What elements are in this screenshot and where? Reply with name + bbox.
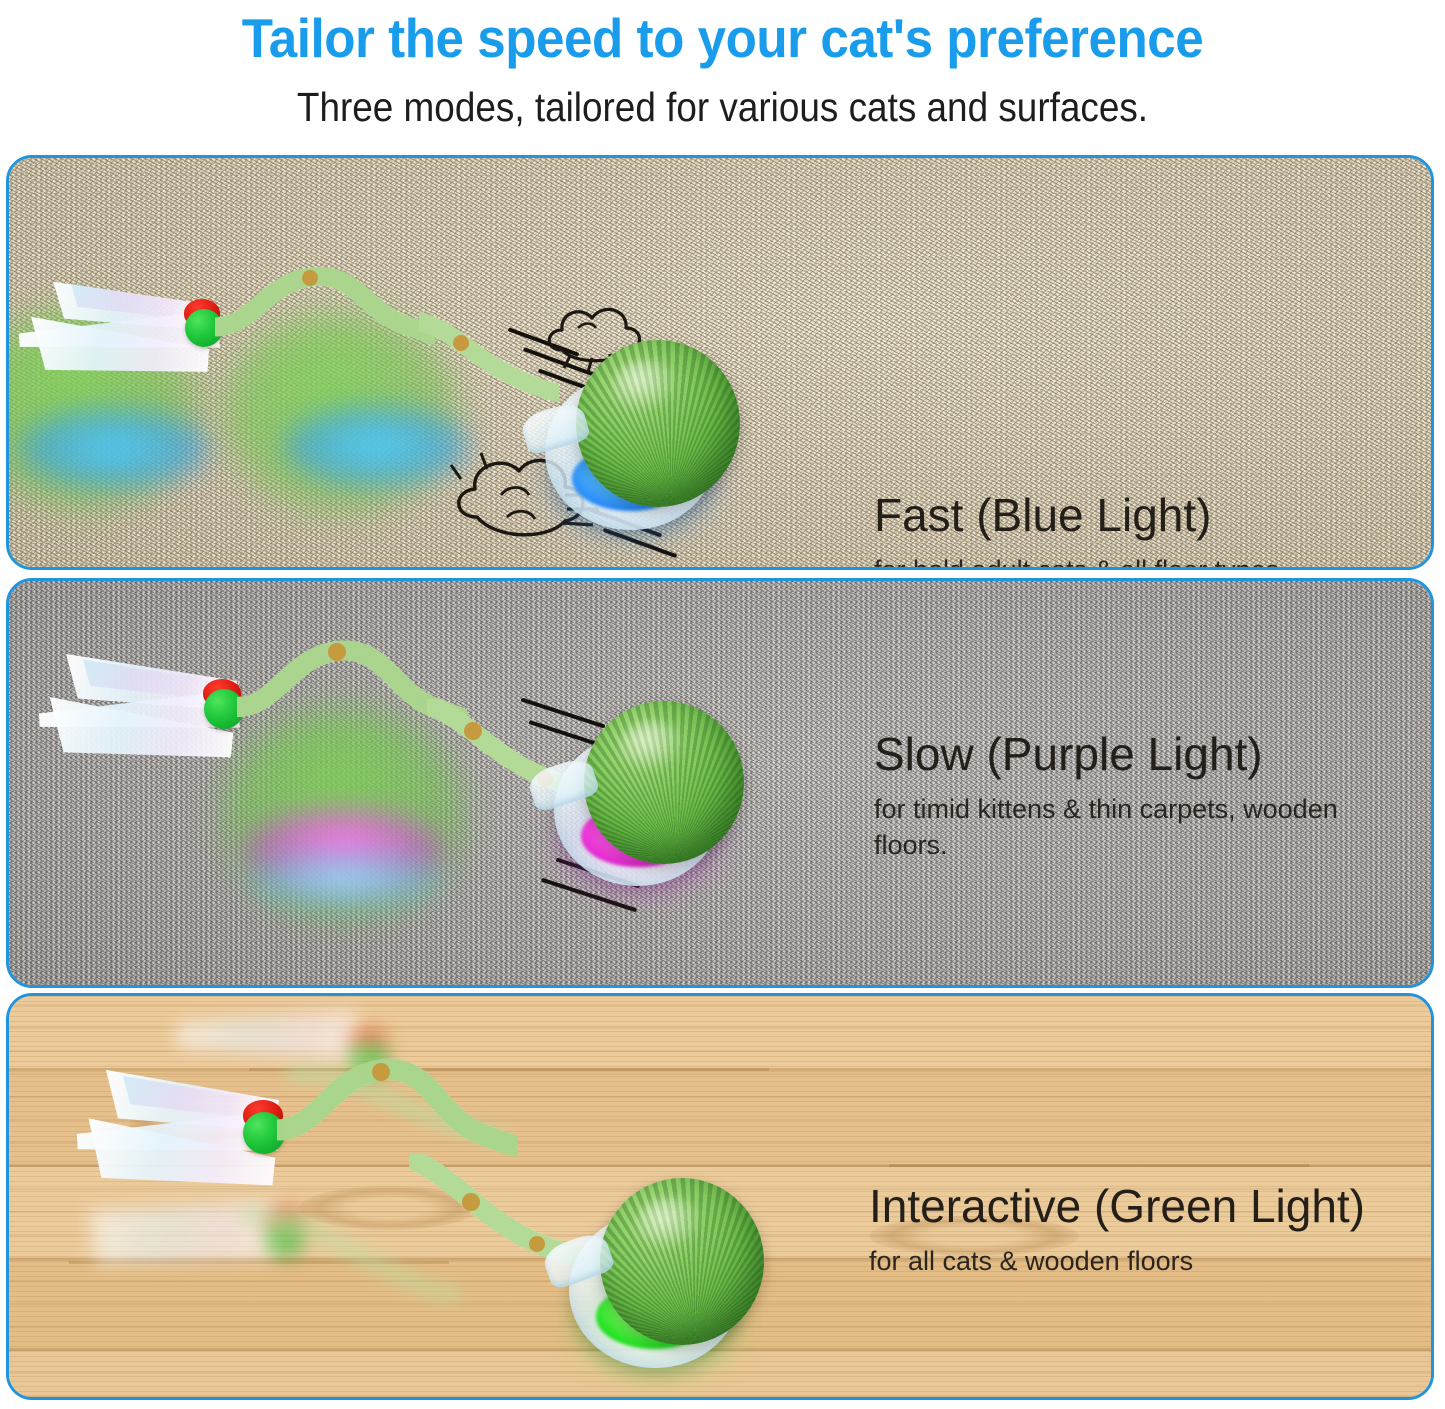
page-title: Tailor the speed to your cat's preferenc… <box>51 6 1395 70</box>
mode-title-fast: Fast (Blue Light) <box>874 491 1279 539</box>
mode-title-interactive: Interactive (Green Light) <box>869 1182 1365 1230</box>
mode-text-interactive: Interactive (Green Light) for all cats &… <box>869 1182 1365 1280</box>
rolling-ball-toy <box>554 701 744 886</box>
ball-motion-ghost-glow <box>284 406 469 486</box>
infographic-root: Tailor the speed to your cat's preferenc… <box>0 0 1445 1409</box>
mode-panel-interactive: Interactive (Green Light) for all cats &… <box>6 993 1434 1400</box>
mode-panel-fast: Fast (Blue Light) for bold adult cats & … <box>6 155 1434 570</box>
mode-title-slow: Slow (Purple Light) <box>874 730 1344 778</box>
shell-highlight <box>620 721 687 773</box>
mode-text-slow: Slow (Purple Light) for timid kittens & … <box>874 730 1344 864</box>
rolling-ball-toy <box>569 1178 764 1368</box>
mode-subtitle-slow: for timid kittens & thin carpets, wooden… <box>874 792 1344 863</box>
feather-wand-toy <box>6 253 429 413</box>
mode-subtitle-fast: for bold adult cats & all floor types <box>874 553 1279 570</box>
page-subtitle: Three modes, tailored for various cats a… <box>72 84 1373 131</box>
shell-highlight <box>636 1198 705 1252</box>
ball-motion-ghost-glow-cyan <box>247 849 443 909</box>
header: Tailor the speed to your cat's preferenc… <box>0 0 1445 152</box>
rolling-ball-toy <box>545 340 740 530</box>
toy-green-shell <box>576 340 740 507</box>
ball-motion-ghost-glow <box>19 408 209 488</box>
wood-plank-seam <box>889 1164 1309 1167</box>
toy-green-shell <box>584 701 744 864</box>
mode-subtitle-interactive: for all cats & wooden floors <box>869 1244 1365 1280</box>
mode-text-fast: Fast (Blue Light) for bold adult cats & … <box>874 491 1279 570</box>
mode-panel-slow: Slow (Purple Light) for timid kittens & … <box>6 578 1434 988</box>
toy-green-shell <box>600 1178 764 1345</box>
mesh-tail <box>215 253 435 393</box>
shell-highlight <box>612 360 681 414</box>
feather-wand-toy <box>19 633 449 793</box>
